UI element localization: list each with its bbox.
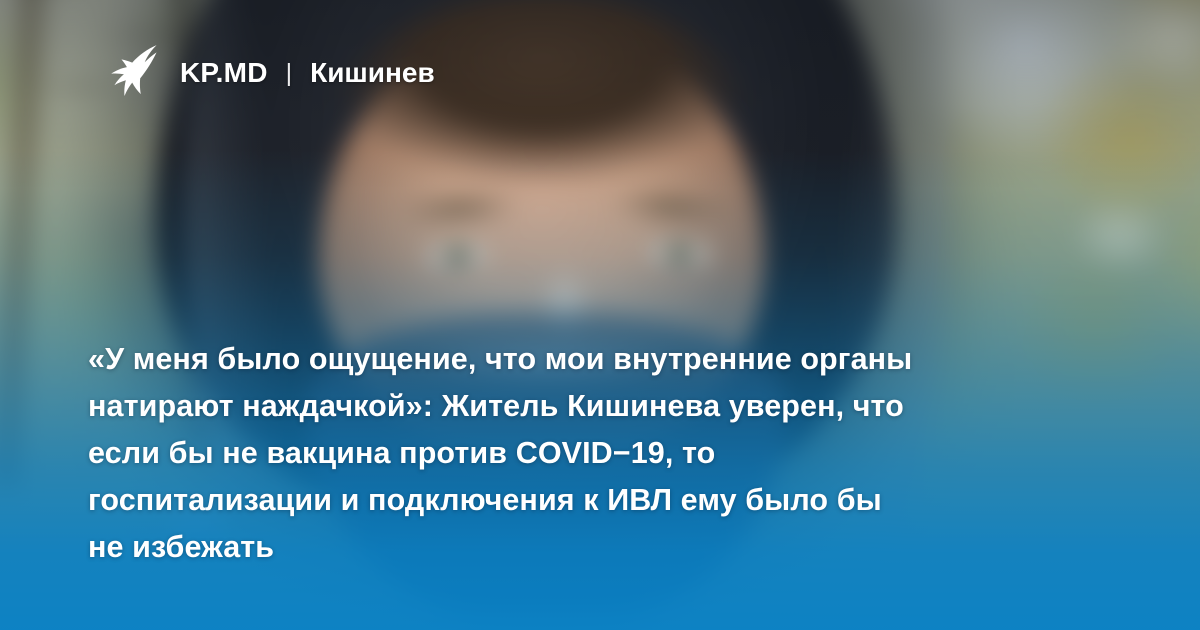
city-name: Кишинев xyxy=(310,57,435,89)
headline-line-1: «У меня было ощущение, что мои внутренни… xyxy=(88,336,1108,383)
brand-name: KP.MD xyxy=(180,57,268,89)
headline-line-3: если бы не вакцина против COVID−19, то xyxy=(88,430,1108,477)
headline-line-2: натирают наждачкой»: Житель Кишинева уве… xyxy=(88,383,1108,430)
share-card: KP.MD | Кишинев «У меня было ощущение, ч… xyxy=(0,0,1200,630)
brand-header: KP.MD | Кишинев xyxy=(96,42,435,104)
headline-line-5: не избежать xyxy=(88,524,1108,571)
headline: «У меня было ощущение, что мои внутренни… xyxy=(88,336,1108,571)
headline-line-4: госпитализации и подключения к ИВЛ ему б… xyxy=(88,477,1108,524)
header-separator: | xyxy=(286,59,293,88)
swallow-bird-icon xyxy=(96,42,158,104)
